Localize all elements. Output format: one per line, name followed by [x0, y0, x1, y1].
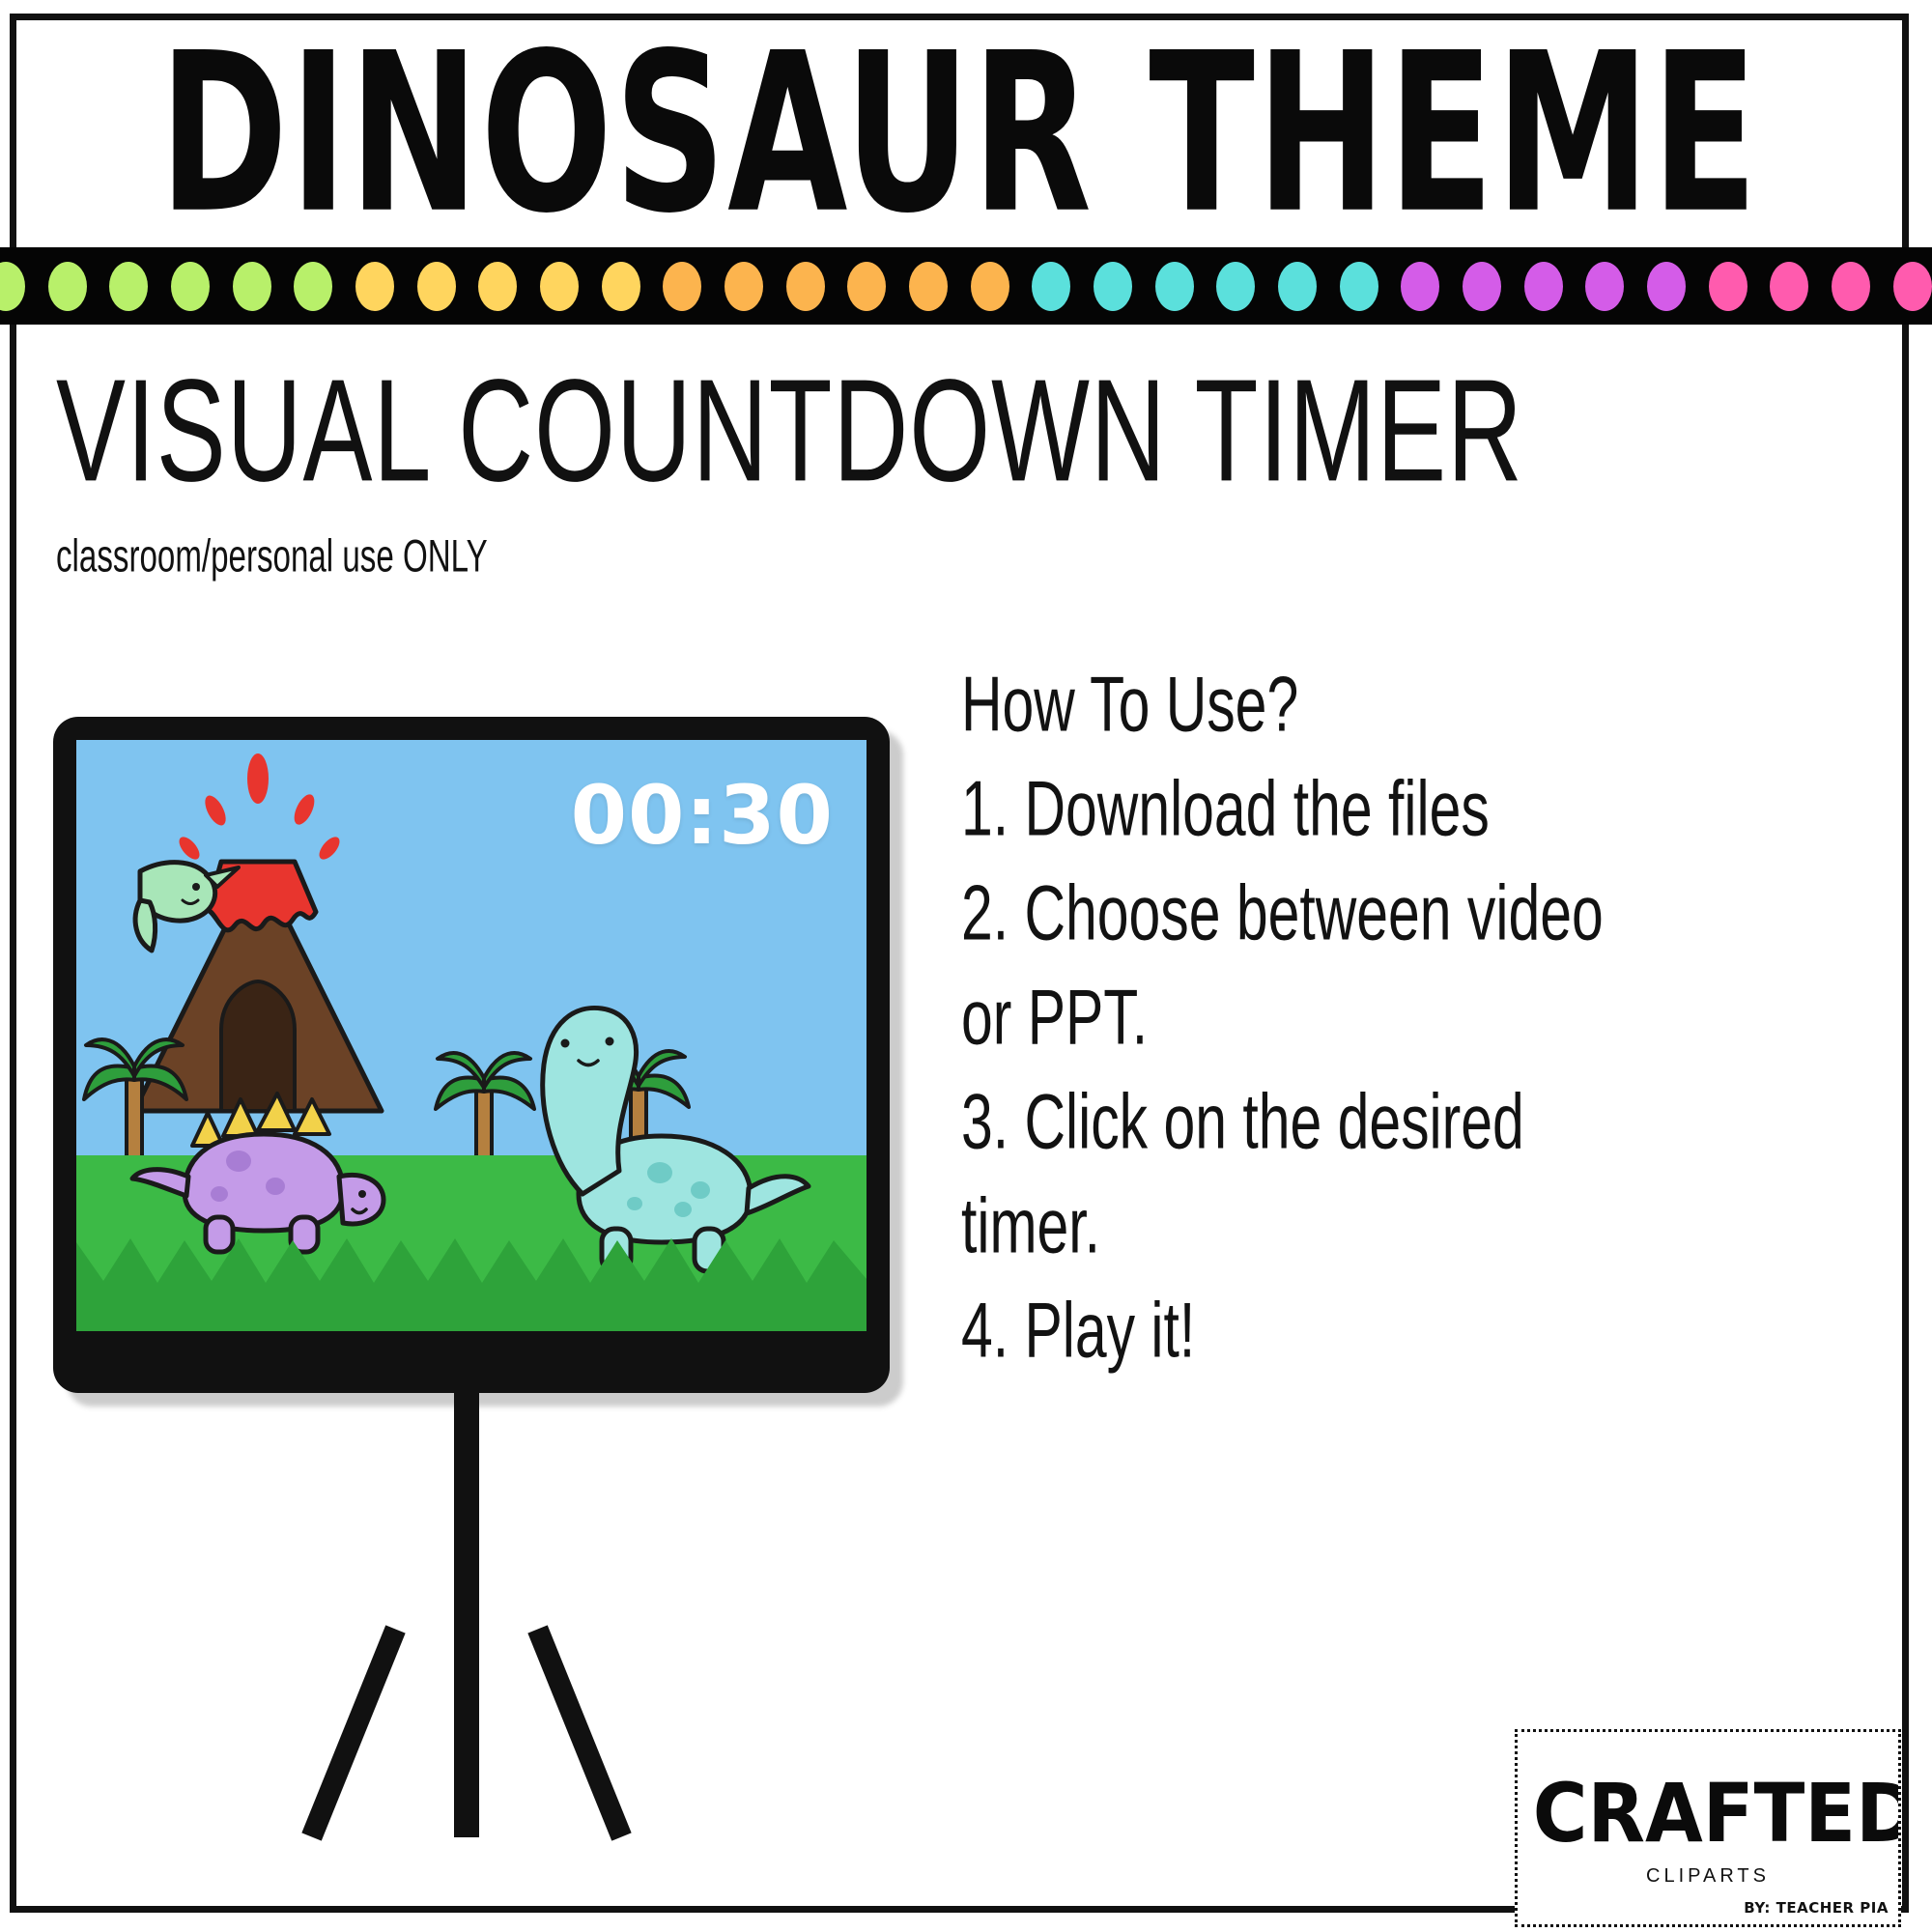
brand-logo: CRAFTED CLIPARTS BY: TEACHER PIA	[1515, 1729, 1901, 1927]
heading-title: VISUAL COUNTDOWN TIMER	[56, 357, 1745, 503]
divider-dot	[602, 262, 640, 311]
instructions-steps: 1. Download the files2. Choose between v…	[961, 771, 1889, 1352]
divider-dot	[1893, 262, 1932, 311]
divider-dot	[478, 262, 517, 311]
instruction-step: or PPT.	[961, 980, 1842, 1058]
divider-dot	[1155, 262, 1194, 311]
title-band: DINOSAUR THEME	[16, 20, 1902, 247]
divider-dot	[171, 262, 210, 311]
divider-dot	[909, 262, 948, 311]
divider-dot	[786, 262, 825, 311]
divider-dot	[1278, 262, 1317, 311]
divider-dot	[48, 262, 87, 311]
divider-dot	[663, 262, 701, 311]
timer-preview-image: 00:30	[76, 740, 867, 1331]
divider-dot	[1094, 262, 1132, 311]
divider-dot	[0, 262, 25, 311]
divider-dot	[109, 262, 148, 311]
divider-dot	[1463, 262, 1501, 311]
instruction-step: 4. Play it!	[961, 1293, 1842, 1371]
divider-dot	[724, 262, 763, 311]
divider-dot	[1647, 262, 1686, 311]
instruction-step: 2. Choose between video	[961, 875, 1842, 953]
brand-name: CRAFTED	[1533, 1773, 1883, 1854]
divider-dot	[294, 262, 332, 311]
divider-dot	[1832, 262, 1870, 311]
divider-dot	[1340, 262, 1378, 311]
divider-dot	[1709, 262, 1747, 311]
instructions-title: How To Use?	[961, 667, 1842, 745]
poster-page: DINOSAUR THEME VISUAL COUNTDOWN TIMER cl…	[0, 0, 1932, 1932]
divider-dot	[1216, 262, 1255, 311]
divider-dot	[355, 262, 394, 311]
instruction-step: 3. Click on the desired	[961, 1084, 1842, 1162]
divider-dot	[540, 262, 579, 311]
divider-dot	[1032, 262, 1070, 311]
divider-dot	[233, 262, 271, 311]
instructions-block: How To Use? 1. Download the files2. Choo…	[961, 667, 1889, 1397]
dot-row	[0, 262, 1932, 311]
heading-subtitle: classroom/personal use ONLY	[56, 529, 1727, 582]
divider-dot	[971, 262, 1009, 311]
brand-subtitle: CLIPARTS	[1518, 1865, 1898, 1888]
instruction-step: timer.	[961, 1188, 1842, 1266]
divider-dot	[1770, 262, 1808, 311]
heading-block: VISUAL COUNTDOWN TIMER classroom/persona…	[56, 357, 1872, 570]
countdown-timer-value: 00:30	[571, 775, 834, 856]
lava-splash-icon	[176, 753, 344, 863]
brand-credit: BY: TEACHER PIA	[1744, 1899, 1889, 1917]
divider-dot	[1585, 262, 1624, 311]
projector-screen: 00:30	[53, 717, 903, 1432]
divider-dot	[847, 262, 886, 311]
dot-divider-bar	[0, 247, 1932, 325]
tripod-stand	[53, 1393, 890, 1847]
instruction-step: 1. Download the files	[961, 771, 1842, 849]
divider-dot	[417, 262, 456, 311]
page-title: DINOSAUR THEME	[159, 24, 1759, 243]
divider-dot	[1401, 262, 1439, 311]
divider-dot	[1524, 262, 1563, 311]
